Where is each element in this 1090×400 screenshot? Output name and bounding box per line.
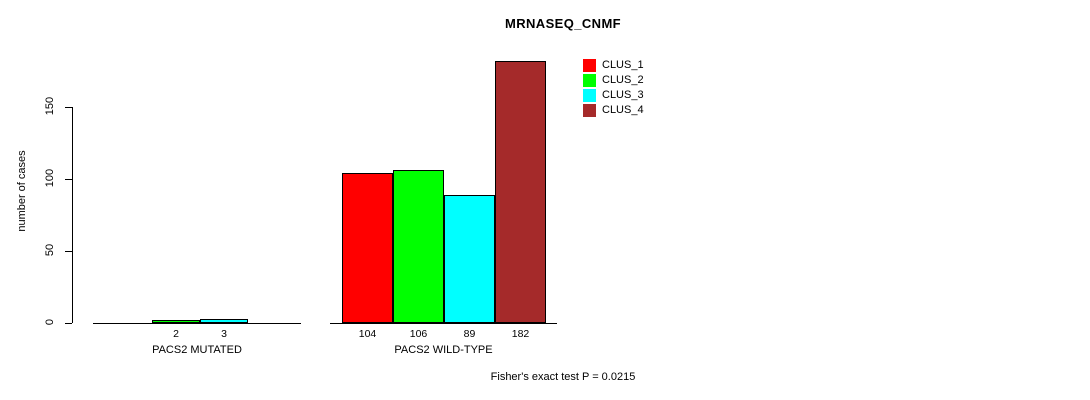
y-axis-tick-label: 100 xyxy=(44,163,56,193)
group-label: PACS2 WILD-TYPE xyxy=(334,344,554,356)
y-axis-tick-label: 150 xyxy=(44,91,56,121)
legend-item-label: CLUS_4 xyxy=(602,104,644,117)
chart-title: MRNASEQ_CNMF xyxy=(0,16,1090,31)
legend-item-label: CLUS_2 xyxy=(602,74,644,87)
chart-legend: CLUS_1CLUS_2CLUS_3CLUS_4 xyxy=(583,58,644,118)
legend-item[interactable]: CLUS_1 xyxy=(583,58,644,73)
legend-swatch-icon xyxy=(583,59,596,72)
y-axis-tick xyxy=(65,323,72,324)
x-axis-baseline xyxy=(93,323,301,324)
bar[interactable] xyxy=(444,195,495,323)
bar-value-label: 3 xyxy=(190,328,258,340)
bar[interactable] xyxy=(342,173,393,323)
y-axis-title: number of cases xyxy=(16,141,28,241)
bar[interactable] xyxy=(200,319,248,323)
legend-item[interactable]: CLUS_3 xyxy=(583,88,644,103)
y-axis-tick xyxy=(65,251,72,252)
y-axis-tick xyxy=(65,107,72,108)
legend-item-label: CLUS_3 xyxy=(602,89,644,102)
footnote-statistic: Fisher's exact test P = 0.0215 xyxy=(0,371,1090,383)
bar[interactable] xyxy=(152,320,200,323)
legend-item[interactable]: CLUS_2 xyxy=(583,73,644,88)
legend-swatch-icon xyxy=(583,89,596,102)
y-axis-tick-label: 0 xyxy=(44,307,56,337)
y-axis-tick-label: 50 xyxy=(44,235,56,265)
y-axis-tick xyxy=(65,179,72,180)
legend-swatch-icon xyxy=(583,104,596,117)
bar-value-label: 182 xyxy=(485,328,556,340)
chart-canvas: MRNASEQ_CNMF number of cases 050100150 2… xyxy=(0,0,1090,400)
legend-swatch-icon xyxy=(583,74,596,87)
x-axis-baseline xyxy=(330,323,557,324)
y-axis-line xyxy=(72,107,73,323)
bar[interactable] xyxy=(495,61,546,323)
legend-item-label: CLUS_1 xyxy=(602,59,644,72)
legend-item[interactable]: CLUS_4 xyxy=(583,103,644,118)
bar[interactable] xyxy=(393,170,444,323)
group-label: PACS2 MUTATED xyxy=(87,344,307,356)
